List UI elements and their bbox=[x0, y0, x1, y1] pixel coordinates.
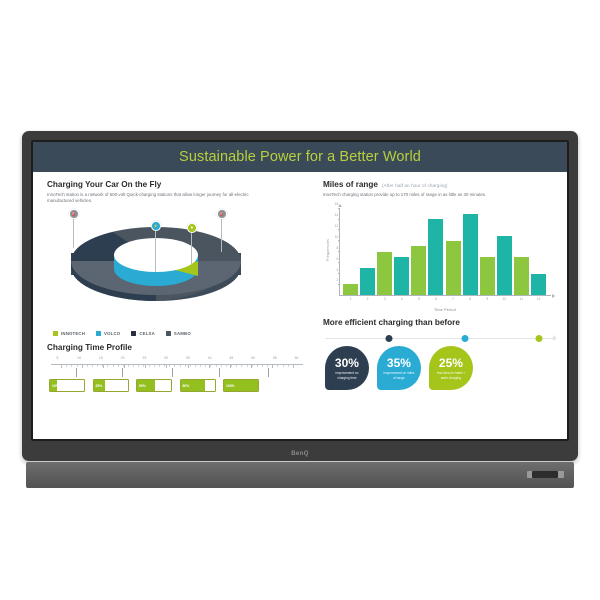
efficiency-caption: improvement on miles of range bbox=[382, 371, 415, 380]
timeline-line bbox=[325, 338, 555, 339]
miles-copy: InnoTech charging station provide up to … bbox=[323, 192, 528, 199]
efficiency-percent: 25% bbox=[439, 357, 463, 369]
right-column: Miles of range(After half an hour of cha… bbox=[317, 180, 557, 433]
ruler-minor-tick bbox=[180, 365, 181, 367]
ruler-minor-tick bbox=[216, 365, 217, 367]
slide-title: Sustainable Power for a Better World bbox=[179, 149, 421, 165]
ruler-tick-25 bbox=[145, 364, 146, 368]
battery-cap-icon bbox=[215, 382, 216, 390]
ytick-mark-12 bbox=[338, 229, 340, 230]
efficiency-percent: 35% bbox=[387, 357, 411, 369]
battery-cap-inner bbox=[84, 383, 85, 389]
bar-1 bbox=[343, 284, 358, 295]
bar-6 bbox=[428, 219, 443, 295]
timeline-dot-2[interactable] bbox=[462, 335, 469, 342]
ruler-minor-tick bbox=[226, 365, 227, 367]
fuel-pump-icon-2: ⛽ bbox=[217, 209, 227, 219]
ruler-tick-35 bbox=[188, 364, 189, 368]
ruler-minor-tick bbox=[107, 365, 108, 367]
ruler-drop-line bbox=[76, 368, 77, 377]
battery-fill: 50% bbox=[137, 380, 155, 391]
battery-25%: 25% bbox=[93, 379, 129, 392]
battery-fill: 10% bbox=[50, 380, 57, 391]
chart-bars bbox=[343, 208, 546, 295]
miles-heading: Miles of range(After half an hour of cha… bbox=[323, 180, 557, 189]
profile-heading: Charging Time Profile bbox=[47, 343, 307, 352]
ruler-minor-tick bbox=[118, 365, 119, 367]
legend-item-innotech: INNOTECH bbox=[53, 331, 85, 336]
ruler-minor-tick bbox=[97, 365, 98, 367]
charging-time-profile: Charging Time Profile 510152025303540455… bbox=[47, 343, 307, 392]
slide-title-bar: Sustainable Power for a Better World bbox=[33, 142, 567, 172]
ruler-label-50: 50 bbox=[251, 356, 255, 360]
battery-row: 10%25%50%80%100% bbox=[47, 379, 307, 392]
bar-12 bbox=[531, 274, 546, 296]
xtick-10: 10 bbox=[497, 297, 512, 301]
ruler-drop-line bbox=[172, 368, 173, 377]
timeline-dot-1[interactable] bbox=[386, 335, 393, 342]
miles-bar-chart: Frequencies 123456789101112 246810121416… bbox=[323, 204, 557, 312]
legend-label-volco: VOLCO bbox=[104, 331, 120, 336]
xtick-11: 11 bbox=[514, 297, 529, 301]
legend-label-sambo: SAMBO bbox=[174, 331, 191, 336]
ruler-minor-tick bbox=[71, 365, 72, 367]
chart-xlabel: Time Period bbox=[339, 308, 551, 312]
legend-item-sambo: SAMBO bbox=[166, 331, 191, 336]
ruler-drop-line bbox=[122, 368, 123, 377]
ruler-minor-tick bbox=[92, 365, 93, 367]
miles-heading-text: Miles of range bbox=[323, 180, 378, 189]
profile-ruler: 51015202530354045505560 bbox=[47, 356, 307, 378]
legend-label-innotech: INNOTECH bbox=[61, 331, 85, 336]
ruler-label-55: 55 bbox=[273, 356, 277, 360]
ruler-minor-tick bbox=[221, 365, 222, 367]
ruler-minor-tick bbox=[205, 365, 206, 367]
ytick-mark-6 bbox=[338, 262, 340, 263]
ruler-minor-tick bbox=[174, 365, 175, 367]
ruler-minor-tick bbox=[257, 365, 258, 367]
ruler-label-10: 10 bbox=[77, 356, 81, 360]
ruler-minor-tick bbox=[133, 365, 134, 367]
ruler-tick-30 bbox=[166, 364, 167, 368]
battery-cap-inner bbox=[128, 383, 129, 389]
efficiency-drop-35[interactable]: 35%improvement on miles of range bbox=[377, 346, 421, 390]
ruler-minor-tick bbox=[252, 365, 253, 367]
bar-5 bbox=[411, 246, 426, 295]
ytick-8: 8 bbox=[337, 246, 340, 250]
ytick-10: 10 bbox=[335, 235, 340, 239]
ruler-minor-tick bbox=[102, 365, 103, 367]
bolt-icon: ⚡ bbox=[151, 221, 161, 231]
ruler-label-45: 45 bbox=[229, 356, 233, 360]
chart-plot-area: 123456789101112 246810121416 bbox=[339, 208, 551, 296]
ytick-mark-16 bbox=[338, 208, 340, 209]
ruler-minor-tick bbox=[231, 365, 232, 367]
efficiency-caption: less idea for faster / safer charging bbox=[434, 371, 467, 380]
ruler-minor-tick bbox=[241, 365, 242, 367]
xtick-3: 3 bbox=[377, 297, 392, 301]
battery-percent: 80% bbox=[183, 384, 190, 388]
ruler-minor-tick bbox=[61, 365, 62, 367]
ytick-14: 14 bbox=[335, 213, 340, 217]
battery-percent: 50% bbox=[139, 384, 146, 388]
ruler-minor-tick bbox=[169, 365, 170, 367]
efficiency-timeline bbox=[325, 333, 555, 343]
battery-fill: 100% bbox=[224, 380, 258, 391]
ytick-mark-8 bbox=[338, 251, 340, 252]
battery-cap-icon bbox=[85, 382, 86, 390]
ruler-minor-tick bbox=[293, 365, 294, 367]
fuel-pump-icon: ⛽ bbox=[69, 209, 79, 219]
ruler-minor-tick bbox=[272, 365, 273, 367]
donut-legend: INNOTECH VOLCO CELSA bbox=[47, 331, 307, 336]
bar-2 bbox=[360, 268, 375, 295]
efficiency-caption: improvement on charging time bbox=[330, 371, 363, 380]
timeline-dot-3[interactable] bbox=[535, 335, 542, 342]
xtick-5: 5 bbox=[411, 297, 426, 301]
ytick-16: 16 bbox=[335, 202, 340, 206]
battery-cap-icon bbox=[128, 382, 129, 390]
ruler-minor-tick bbox=[159, 365, 160, 367]
xtick-8: 8 bbox=[463, 297, 478, 301]
xtick-2: 2 bbox=[360, 297, 375, 301]
ruler-minor-tick bbox=[267, 365, 268, 367]
xtick-12: 12 bbox=[531, 297, 546, 301]
donut-chart: ⛽ ⚡ ⚑ ⛽ bbox=[47, 209, 307, 329]
battery-cap-icon bbox=[172, 382, 173, 390]
battery-percent: 10% bbox=[52, 384, 59, 388]
efficiency-percent: 30% bbox=[335, 357, 359, 369]
legend-label-celsa: CELSA bbox=[139, 331, 155, 336]
chart-xticks: 123456789101112 bbox=[343, 295, 546, 301]
ruler-minor-tick bbox=[262, 365, 263, 367]
ruler-label-35: 35 bbox=[186, 356, 190, 360]
battery-100%: 100% bbox=[223, 379, 259, 392]
ytick-2: 2 bbox=[337, 278, 340, 282]
chart-ylabel: Frequencies bbox=[326, 239, 330, 261]
ruler-drop-line bbox=[268, 368, 269, 377]
ruler-minor-tick bbox=[82, 365, 83, 367]
ytick-6: 6 bbox=[337, 257, 340, 261]
xtick-4: 4 bbox=[394, 297, 409, 301]
indicator-light bbox=[532, 471, 558, 478]
xtick-6: 6 bbox=[428, 297, 443, 301]
ruler-tick-20 bbox=[124, 364, 125, 368]
bar-7 bbox=[446, 241, 461, 295]
presentation-slide: Sustainable Power for a Better World Cha… bbox=[33, 142, 567, 439]
ytick-12: 12 bbox=[335, 224, 340, 228]
bar-8 bbox=[463, 214, 478, 296]
battery-cap-icon bbox=[259, 382, 260, 390]
ruler-minor-tick bbox=[154, 365, 155, 367]
ruler-minor-tick bbox=[77, 365, 78, 367]
ytick-mark-10 bbox=[338, 240, 340, 241]
legend-swatch-innotech bbox=[53, 331, 58, 336]
display-screen[interactable]: Sustainable Power for a Better World Cha… bbox=[31, 140, 569, 441]
battery-fill: 80% bbox=[181, 380, 205, 391]
ruler-minor-tick bbox=[288, 365, 289, 367]
bar-4 bbox=[394, 257, 409, 295]
bar-11 bbox=[514, 257, 529, 295]
ruler-tick-40 bbox=[209, 364, 210, 368]
efficiency-drop-25[interactable]: 25%less idea for faster / safer charging bbox=[429, 346, 473, 390]
legend-item-celsa: CELSA bbox=[131, 331, 155, 336]
flag-icon: ⚑ bbox=[187, 223, 197, 233]
legend-swatch-sambo bbox=[166, 331, 171, 336]
ruler-label-15: 15 bbox=[99, 356, 103, 360]
battery-10%: 10% bbox=[49, 379, 85, 392]
ruler-label-20: 20 bbox=[121, 356, 125, 360]
ytick-mark-2 bbox=[338, 284, 340, 285]
x-axis-arrow-icon bbox=[552, 294, 555, 298]
xtick-9: 9 bbox=[480, 297, 495, 301]
ruler-minor-tick bbox=[143, 365, 144, 367]
ruler-minor-tick bbox=[128, 365, 129, 367]
display-stand-bar bbox=[26, 462, 574, 488]
ytick-mark-4 bbox=[338, 273, 340, 274]
ruler-minor-tick bbox=[277, 365, 278, 367]
bar-10 bbox=[497, 236, 512, 296]
ruler-minor-tick bbox=[149, 365, 150, 367]
bar-9 bbox=[480, 257, 495, 295]
xtick-1: 1 bbox=[343, 297, 358, 301]
ruler-minor-tick bbox=[113, 365, 114, 367]
ytick-mark-14 bbox=[338, 219, 340, 220]
ruler-label-40: 40 bbox=[208, 356, 212, 360]
ruler-minor-tick bbox=[210, 365, 211, 367]
ruler-minor-tick bbox=[190, 365, 191, 367]
battery-percent: 100% bbox=[226, 384, 235, 388]
battery-fill: 25% bbox=[94, 380, 106, 391]
left-column: Charging Your Car On the Fly InnoTech st… bbox=[47, 180, 307, 433]
ruler-drop-line bbox=[219, 368, 220, 377]
battery-percent: 25% bbox=[96, 384, 103, 388]
ruler-minor-tick bbox=[185, 365, 186, 367]
ruler-minor-tick bbox=[283, 365, 284, 367]
xtick-7: 7 bbox=[446, 297, 461, 301]
efficiency-drop-30[interactable]: 30%improvement on charging time bbox=[325, 346, 369, 390]
miles-heading-note: (After half an hour of charging) bbox=[382, 183, 448, 188]
ruler-minor-tick bbox=[138, 365, 139, 367]
ruler-numbers: 51015202530354045505560 bbox=[47, 356, 307, 362]
battery-50%: 50% bbox=[136, 379, 172, 392]
ruler-minor-tick bbox=[200, 365, 201, 367]
legend-swatch-volco bbox=[96, 331, 101, 336]
screenshot-root: Sustainable Power for a Better World Cha… bbox=[0, 0, 600, 600]
benq-logo: BenQ bbox=[22, 451, 578, 457]
bar-3 bbox=[377, 252, 392, 296]
battery-cap-inner bbox=[258, 383, 259, 389]
ruler-minor-tick bbox=[87, 365, 88, 367]
ruler-minor-tick bbox=[66, 365, 67, 367]
ruler-minor-tick bbox=[164, 365, 165, 367]
timeline-arrow-icon bbox=[553, 335, 557, 341]
battery-cap-inner bbox=[171, 383, 172, 389]
ytick-4: 4 bbox=[337, 268, 340, 272]
display-bezel: Sustainable Power for a Better World Cha… bbox=[22, 131, 578, 461]
ruler-minor-tick bbox=[195, 365, 196, 367]
charging-heading: Charging Your Car On the Fly bbox=[47, 180, 307, 189]
ruler-line bbox=[51, 364, 303, 369]
ruler-label-5: 5 bbox=[56, 356, 58, 360]
ruler-label-30: 30 bbox=[164, 356, 168, 360]
charging-copy: InnoTech station is a network of 500-vol… bbox=[47, 192, 252, 206]
ruler-minor-tick bbox=[247, 365, 248, 367]
battery-cap-inner bbox=[215, 383, 216, 389]
efficiency-section: More efficient charging than before 30%i… bbox=[323, 318, 557, 390]
ruler-tick-15 bbox=[103, 364, 104, 368]
battery-80%: 80% bbox=[180, 379, 216, 392]
slide-body: Charging Your Car On the Fly InnoTech st… bbox=[33, 172, 567, 439]
efficiency-stats: 30%improvement on charging time35%improv… bbox=[323, 346, 557, 390]
legend-swatch-celsa bbox=[131, 331, 136, 336]
ruler-minor-tick bbox=[236, 365, 237, 367]
ruler-label-60: 60 bbox=[295, 356, 299, 360]
efficiency-heading: More efficient charging than before bbox=[323, 318, 557, 327]
ruler-label-25: 25 bbox=[142, 356, 146, 360]
ruler-minor-tick bbox=[123, 365, 124, 367]
legend-item-volco: VOLCO bbox=[96, 331, 120, 336]
